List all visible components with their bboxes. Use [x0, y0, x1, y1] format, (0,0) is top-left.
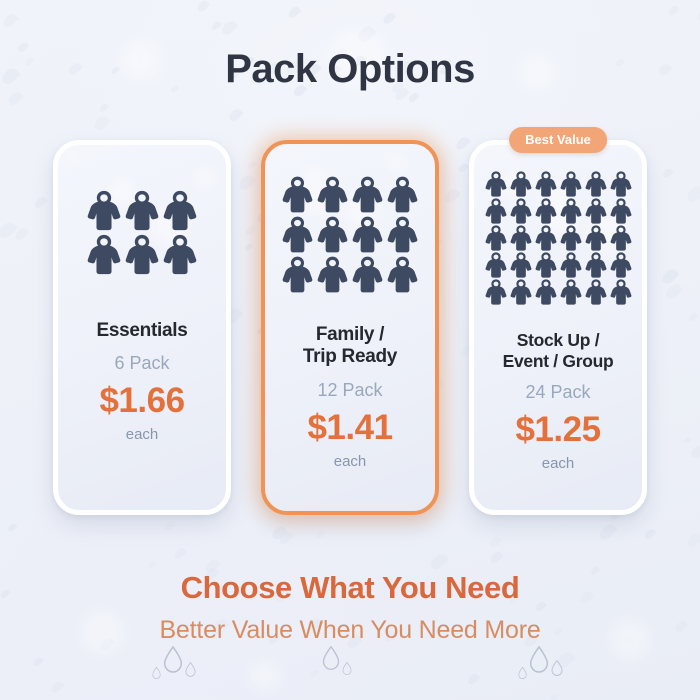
hooded-poncho-icon — [87, 234, 121, 275]
hooded-poncho-icon — [585, 252, 607, 278]
hooded-poncho-icon — [352, 176, 383, 213]
background-raindrop — [487, 535, 501, 549]
droplet-decoration-row — [0, 646, 700, 690]
hooded-poncho-icon — [125, 190, 159, 231]
droplet-cluster — [322, 646, 352, 693]
hooded-poncho-icon — [125, 234, 159, 275]
hooded-poncho-icon — [610, 225, 632, 251]
hooded-poncho-icon — [560, 171, 582, 197]
background-raindrop — [163, 519, 175, 531]
hooded-poncho-icon — [485, 225, 507, 251]
card-title-line: Trip Ready — [303, 346, 397, 368]
pack-option-card-stock-up-event-group[interactable]: Best ValueStock Up /Event / Group24 Pack… — [469, 140, 647, 515]
background-raindrop — [278, 530, 295, 547]
card-title: Stock Up /Event / Group — [499, 330, 618, 371]
background-raindrop — [355, 23, 376, 44]
droplet — [342, 662, 352, 680]
pack-icon-area — [265, 144, 435, 324]
background-raindrop — [91, 114, 110, 133]
background-raindrop — [315, 529, 325, 539]
pack-count-label: 12 Pack — [317, 380, 382, 401]
hooded-poncho-icon — [352, 256, 383, 293]
background-raindrop — [287, 5, 302, 20]
card-inner: Stock Up /Event / Group24 Pack$1.25each — [474, 145, 642, 510]
hooded-poncho-icon — [560, 279, 582, 305]
card-inner: Family /Trip Ready12 Pack$1.41each — [265, 144, 435, 511]
best-value-badge: Best Value — [509, 127, 607, 153]
hooded-poncho-icon — [387, 216, 418, 253]
unit-price: $1.66 — [99, 383, 184, 418]
card-title: Family /Trip Ready — [299, 324, 401, 369]
droplet — [163, 646, 183, 678]
droplet — [152, 666, 161, 684]
hooded-poncho-icon — [535, 225, 557, 251]
hooded-poncho-icon — [610, 171, 632, 197]
hooded-poncho-icon — [317, 176, 348, 213]
hooded-poncho-icon — [610, 198, 632, 224]
hooded-poncho-icon — [560, 252, 582, 278]
droplet — [551, 660, 563, 681]
hooded-poncho-icon — [163, 190, 197, 231]
hooded-poncho-icon — [282, 216, 313, 253]
hooded-poncho-icon — [317, 216, 348, 253]
hooded-poncho-icon — [510, 198, 532, 224]
unit-price: $1.25 — [515, 412, 600, 447]
pack-icon-area — [58, 145, 226, 320]
pack-icon-grid — [87, 190, 197, 275]
background-raindrop — [685, 531, 700, 550]
hooded-poncho-icon — [585, 198, 607, 224]
water-droplet-icon — [518, 667, 527, 679]
unit-label: each — [542, 455, 575, 472]
background-raindrop — [146, 559, 156, 569]
hooded-poncho-icon — [282, 176, 313, 213]
water-droplet-icon — [152, 667, 161, 679]
card-title-line: Family / — [303, 324, 397, 346]
card-title: Essentials — [93, 320, 192, 342]
hooded-poncho-icon — [387, 176, 418, 213]
background-raindrop — [407, 91, 419, 103]
droplet — [518, 666, 527, 684]
hooded-poncho-icon — [387, 256, 418, 293]
hooded-poncho-icon — [352, 216, 383, 253]
pack-count-label: 24 Pack — [525, 382, 590, 403]
hooded-poncho-icon — [560, 198, 582, 224]
background-raindrop — [98, 102, 108, 112]
card-inner: Essentials6 Pack$1.66each — [58, 145, 226, 510]
footer-primary-text: Choose What You Need — [0, 570, 700, 606]
card-title-line: Essentials — [97, 320, 188, 342]
background-raindrop — [643, 527, 657, 541]
background-raindrop — [6, 90, 24, 108]
card-title-line: Event / Group — [503, 351, 614, 372]
unit-price: $1.41 — [307, 410, 392, 445]
droplet-cluster — [152, 646, 196, 696]
water-droplet-icon — [185, 662, 196, 677]
hooded-poncho-icon — [585, 279, 607, 305]
water-droplet-icon — [322, 646, 340, 670]
card-title-line: Stock Up / — [503, 330, 614, 351]
pack-count-label: 6 Pack — [114, 353, 169, 374]
droplet — [322, 646, 340, 675]
hooded-poncho-icon — [585, 171, 607, 197]
hooded-poncho-icon — [485, 279, 507, 305]
hooded-poncho-icon — [535, 171, 557, 197]
hooded-poncho-icon — [510, 225, 532, 251]
hooded-poncho-icon — [535, 279, 557, 305]
droplet — [185, 662, 196, 682]
pack-icon-area — [474, 145, 642, 330]
hooded-poncho-icon — [485, 198, 507, 224]
background-raindrop — [173, 546, 188, 561]
pack-option-card-family-trip-ready[interactable]: Family /Trip Ready12 Pack$1.41each — [261, 140, 439, 515]
background-raindrop — [381, 11, 396, 26]
hooded-poncho-icon — [485, 171, 507, 197]
hooded-poncho-icon — [510, 171, 532, 197]
background-raindrop — [598, 522, 619, 543]
water-droplet-icon — [529, 646, 549, 673]
hooded-poncho-icon — [485, 252, 507, 278]
background-raindrop — [7, 522, 18, 533]
droplet-cluster — [518, 646, 563, 696]
background-raindrop — [667, 4, 679, 16]
hooded-poncho-icon — [163, 234, 197, 275]
hooded-poncho-icon — [510, 279, 532, 305]
unit-label: each — [334, 453, 367, 470]
hooded-poncho-icon — [510, 252, 532, 278]
page-title: Pack Options — [0, 47, 700, 92]
background-raindrop — [489, 550, 504, 565]
background-raindrop — [196, 0, 210, 13]
water-droplet-icon — [163, 646, 183, 673]
background-raindrop — [2, 11, 19, 28]
background-raindrop — [696, 9, 700, 22]
hooded-poncho-icon — [535, 198, 557, 224]
hooded-poncho-icon — [610, 279, 632, 305]
hooded-poncho-icon — [560, 225, 582, 251]
unit-label: each — [126, 426, 159, 443]
water-droplet-icon — [342, 662, 352, 675]
background-raindrop — [210, 20, 221, 31]
hooded-poncho-icon — [585, 225, 607, 251]
hooded-poncho-icon — [282, 256, 313, 293]
pack-icon-grid — [282, 176, 418, 293]
footer-secondary-text: Better Value When You Need More — [0, 616, 700, 645]
hooded-poncho-icon — [610, 252, 632, 278]
background-raindrop — [270, 524, 287, 541]
pack-icon-grid — [485, 171, 632, 305]
pack-option-card-essentials[interactable]: Essentials6 Pack$1.66each — [53, 140, 231, 515]
pack-options-poster: Pack Options Essentials6 Pack$1.66eachFa… — [0, 0, 700, 700]
hooded-poncho-icon — [87, 190, 121, 231]
hooded-poncho-icon — [535, 252, 557, 278]
pack-options-card-list: Essentials6 Pack$1.66eachFamily /Trip Re… — [0, 140, 700, 520]
hooded-poncho-icon — [317, 256, 348, 293]
background-raindrop — [220, 19, 238, 37]
background-raindrop — [228, 106, 244, 122]
droplet — [529, 646, 549, 678]
water-droplet-icon — [551, 660, 563, 676]
footer-message: Choose What You Need Better Value When Y… — [0, 570, 700, 645]
